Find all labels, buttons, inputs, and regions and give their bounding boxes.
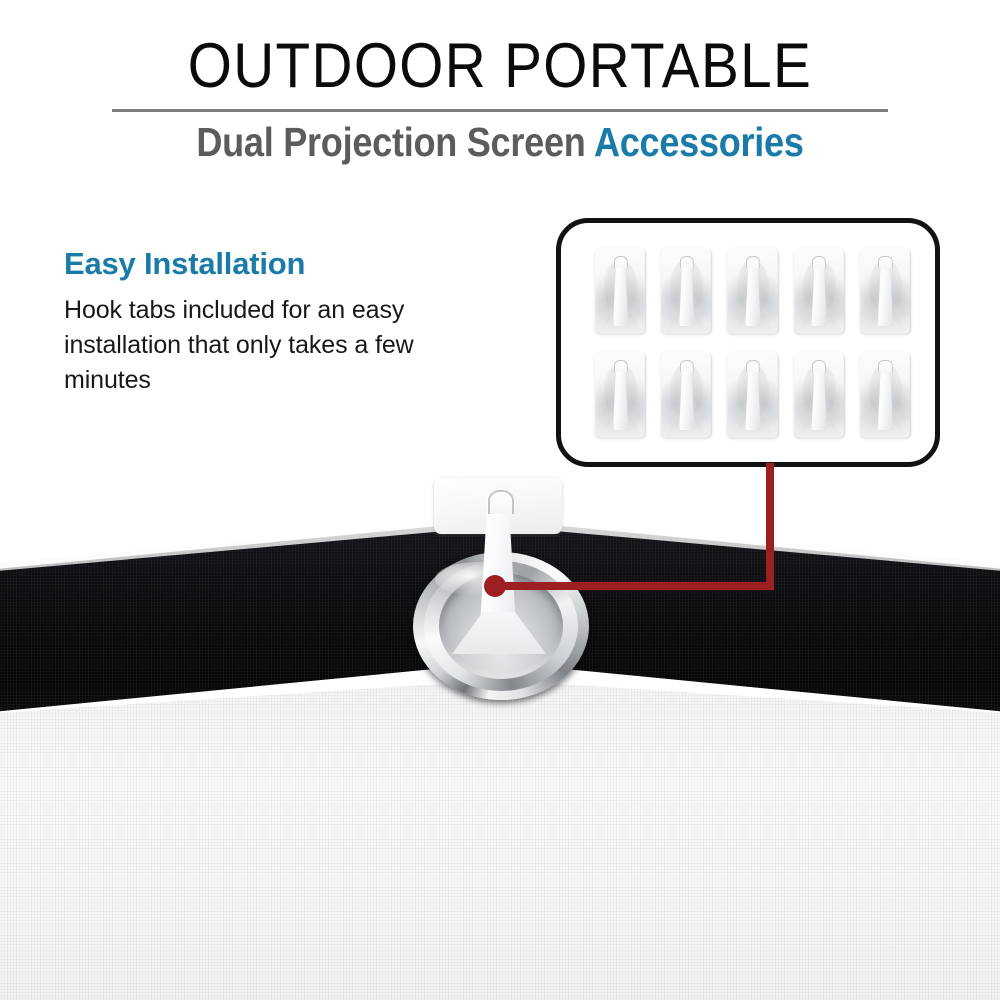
hook-tab-post-cap: [812, 256, 826, 268]
hook-tab-icon: [860, 352, 911, 438]
hook-tab-icon: [661, 352, 712, 438]
hook-tab-post-cap: [680, 360, 694, 372]
hook-tab-icon: [727, 352, 778, 438]
hook-tab-post-cap: [878, 256, 892, 268]
infographic-canvas: OUTDOOR PORTABLE Dual Projection Screen …: [0, 0, 1000, 1000]
hook-tabs-inset-panel: [556, 218, 940, 467]
installed-hook-tab-post-cap: [488, 490, 514, 514]
hook-tab-icon: [595, 352, 646, 438]
hook-tab-icon: [794, 248, 845, 334]
hook-tab-post-cap: [746, 360, 760, 372]
title-divider: [112, 109, 888, 112]
callout-line-horizontal: [495, 582, 774, 590]
hook-tab-icon: [860, 248, 911, 334]
hook-tab-post-cap: [613, 360, 627, 372]
hook-tab-icon: [661, 248, 712, 334]
hook-tab-icon: [794, 352, 845, 438]
feature-block: Easy Installation Hook tabs included for…: [64, 245, 494, 398]
subtitle-text: Dual Projection Screen: [196, 119, 594, 165]
hook-tab-icon: [595, 248, 646, 334]
header-block: OUTDOOR PORTABLE Dual Projection Screen …: [0, 0, 1000, 200]
hook-tab-post-cap: [746, 256, 760, 268]
hook-tab-icon: [727, 248, 778, 334]
feature-heading: Easy Installation: [64, 245, 494, 283]
page-subtitle: Dual Projection Screen Accessories: [60, 118, 940, 166]
hook-tab-post-cap: [812, 360, 826, 372]
hook-tab-post-cap: [680, 256, 694, 268]
page-title: OUTDOOR PORTABLE: [50, 30, 950, 102]
callout-origin-dot: [484, 575, 506, 597]
hook-tab-post-cap: [613, 256, 627, 268]
white-projection-fabric: [0, 680, 1000, 1000]
feature-description: Hook tabs included for an easy installat…: [64, 293, 464, 398]
callout-line-vertical: [766, 463, 774, 590]
hook-tab-post-cap: [878, 360, 892, 372]
subtitle-accent-text: Accessories: [594, 119, 804, 165]
hook-tabs-grid: [595, 248, 911, 438]
